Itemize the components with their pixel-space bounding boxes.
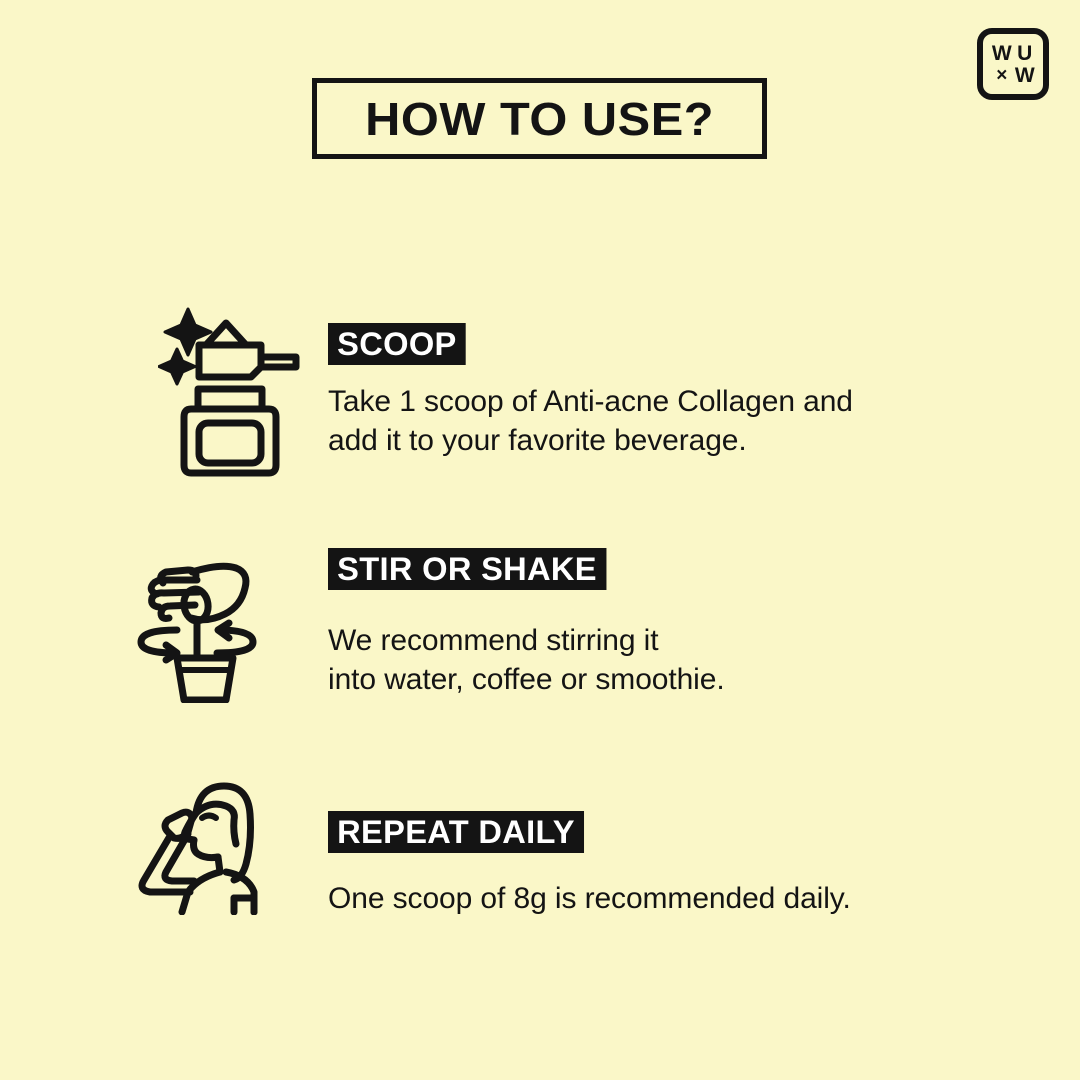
hand-stirring-glass-icon [133,558,283,708]
logo-letter-w-bottom: W [1014,65,1035,86]
step-stir-description: We recommend stirring it into water, cof… [328,621,725,699]
page-title-box: HOW TO USE? [312,78,767,159]
logo-letter-grid: W U × W [991,43,1035,86]
logo-letter-x: × [991,65,1012,86]
how-to-use-infographic: W U × W HOW TO USE? [0,0,1080,1080]
supplement-jar-scoop-icon [158,305,308,485]
step-scoop-badge: SCOOP [328,323,466,365]
step-repeat-badge: REPEAT DAILY [328,811,584,853]
logo-letter-u: U [1014,43,1035,64]
step-repeat-body: REPEAT DAILY One scoop of 8g is recommen… [328,811,851,918]
step-repeat-description: One scoop of 8g is recommended daily. [328,879,851,918]
step-scoop-description: Take 1 scoop of Anti-acne Collagen and a… [328,382,853,460]
wuxw-logo: W U × W [977,28,1049,100]
step-scoop-body: SCOOP Take 1 scoop of Anti-acne Collagen… [328,323,853,460]
logo-letter-w-top: W [991,43,1012,64]
woman-drinking-icon [130,780,280,920]
step-stir-body: STIR OR SHAKE We recommend stirring it i… [328,548,725,699]
step-stir-badge: STIR OR SHAKE [328,548,606,590]
page-title: HOW TO USE? [365,92,714,146]
